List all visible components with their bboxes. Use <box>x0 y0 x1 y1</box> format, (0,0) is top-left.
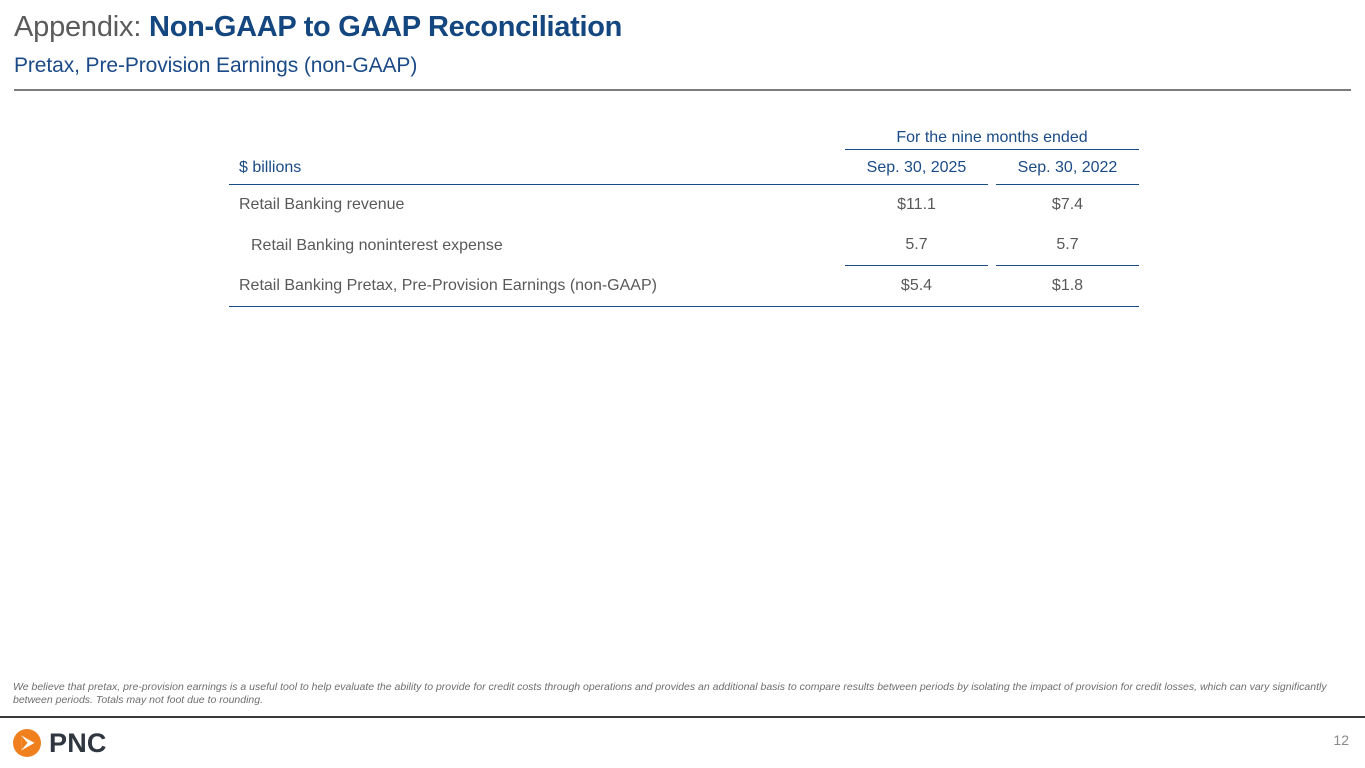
span-header-spacer <box>229 114 845 150</box>
header-divider <box>14 89 1351 91</box>
page-title-main: Non-GAAP to GAAP Reconciliation <box>149 11 622 43</box>
row-label-0: Retail Banking revenue <box>229 185 845 226</box>
row-label-2: Retail Banking Pretax, Pre-Provision Ear… <box>229 266 845 307</box>
row-0-value-0: $11.1 <box>845 185 988 226</box>
row-separator <box>988 266 996 307</box>
row-separator <box>988 185 996 226</box>
table-row-total: Retail Banking Pretax, Pre-Provision Ear… <box>229 266 1139 307</box>
span-header-nine-months: For the nine months ended <box>845 114 1139 150</box>
row-2-value-1: $1.8 <box>996 266 1139 307</box>
table-row: Retail Banking noninterest expense 5.7 5… <box>229 225 1139 266</box>
row-2-value-0: $5.4 <box>845 266 988 307</box>
row-1-value-1: 5.7 <box>996 225 1139 266</box>
pnc-wordmark: PNC <box>49 730 107 757</box>
table-span-header-row: For the nine months ended <box>229 114 1139 150</box>
page-subtitle: Pretax, Pre-Provision Earnings (non-GAAP… <box>14 52 417 79</box>
row-0-value-1: $7.4 <box>996 185 1139 226</box>
row-separator <box>988 225 996 266</box>
pnc-arrow-icon <box>12 728 42 758</box>
pnc-logo: PNC <box>12 728 107 758</box>
row-1-value-0: 5.7 <box>845 225 988 266</box>
reconciliation-table: For the nine months ended $ billions Sep… <box>229 114 1139 307</box>
page-number: 12 <box>1333 732 1349 748</box>
footer-divider <box>0 716 1365 718</box>
row-label-1: Retail Banking noninterest expense <box>229 225 845 266</box>
column-header-1: Sep. 30, 2022 <box>996 150 1139 185</box>
table-header-row: $ billions Sep. 30, 2025 Sep. 30, 2022 <box>229 150 1139 185</box>
table-row: Retail Banking revenue $11.1 $7.4 <box>229 185 1139 226</box>
page-title: Appendix: Non-GAAP to GAAP Reconciliatio… <box>14 8 622 46</box>
column-separator <box>988 150 996 185</box>
page-title-prefix: Appendix: <box>14 11 149 43</box>
unit-label: $ billions <box>229 150 845 185</box>
footnote-text: We believe that pretax, pre-provision ea… <box>13 681 1343 707</box>
column-header-0: Sep. 30, 2025 <box>845 150 988 185</box>
